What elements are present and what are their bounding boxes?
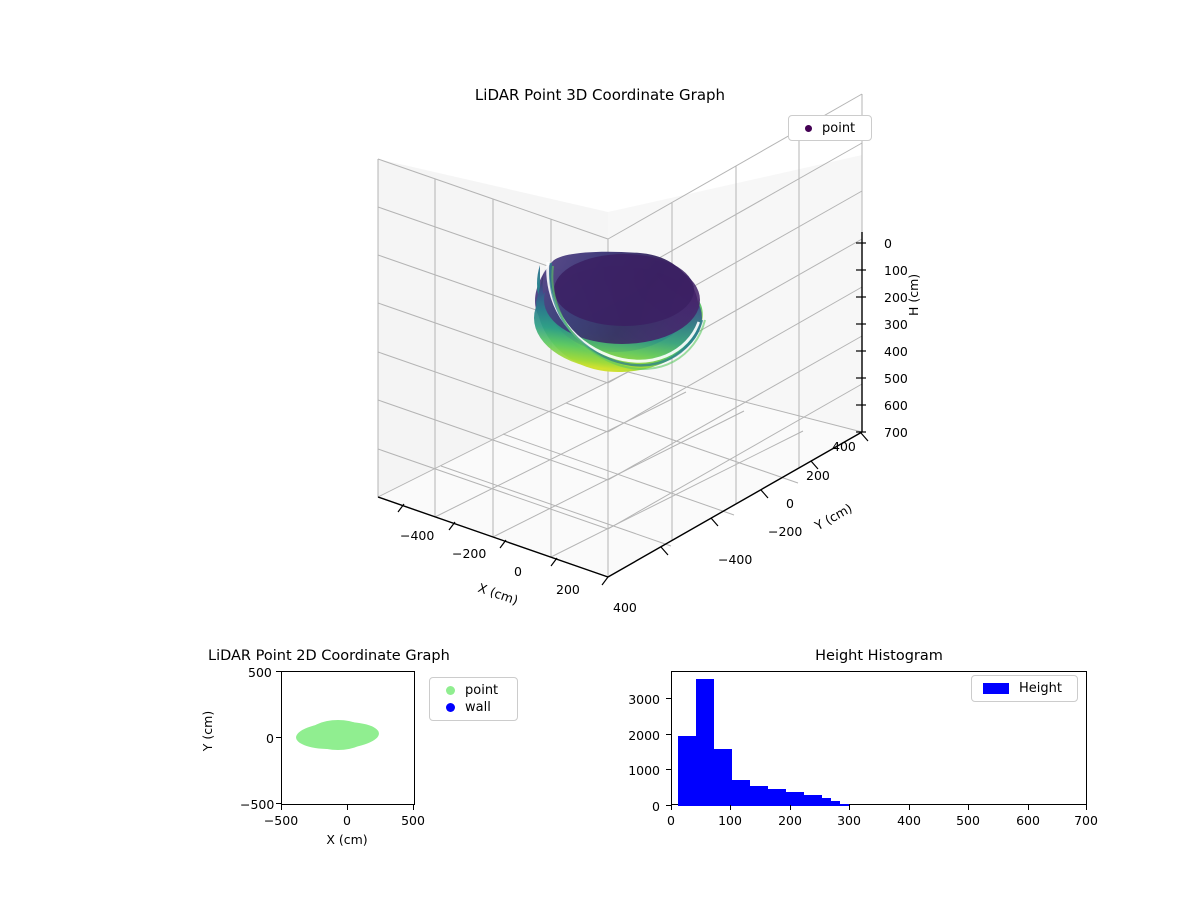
z-tick-500: 500 bbox=[884, 371, 908, 386]
hist-y-tick-0: 0 bbox=[652, 799, 660, 814]
figure-canvas: LiDAR Point 3D Coordinate Graph point 0 … bbox=[0, 0, 1200, 900]
plot2d-xtickmark-1 bbox=[281, 805, 282, 810]
hist-bar-5 bbox=[714, 749, 723, 806]
hist-bar-1 bbox=[678, 736, 687, 806]
y-tick-m400: −400 bbox=[718, 552, 752, 567]
hist-bar-15 bbox=[804, 795, 813, 806]
plot2d-x-tick-500: 500 bbox=[401, 813, 425, 828]
plot2d-y-tick-m500: −500 bbox=[240, 797, 274, 812]
x-tick-m400: −400 bbox=[400, 528, 434, 543]
hist-x-tick-300: 300 bbox=[837, 813, 861, 828]
axes3d-grid-left bbox=[378, 159, 608, 577]
x-tick-0: 0 bbox=[514, 564, 522, 579]
legend-entry-point-2d[interactable]: point bbox=[438, 682, 509, 699]
hist-ytickmark-4 bbox=[666, 698, 671, 699]
hist-y-tick-3000: 3000 bbox=[628, 692, 660, 707]
z-tick-700: 700 bbox=[884, 425, 908, 440]
axes3d-grid-right bbox=[608, 94, 862, 577]
y-tick-400: 400 bbox=[832, 439, 856, 454]
plot3d-legend[interactable]: point bbox=[788, 115, 872, 141]
hist-bar-2 bbox=[687, 736, 696, 806]
x-tick-m200: −200 bbox=[452, 546, 486, 561]
y-tick-0: 0 bbox=[786, 496, 794, 511]
hist-xtickmark-6 bbox=[968, 805, 969, 810]
hist-x-tick-500: 500 bbox=[956, 813, 980, 828]
plot2d-xtickmark-3 bbox=[413, 805, 414, 810]
point-cloud-3d bbox=[534, 252, 705, 372]
hist-xtickmark-4 bbox=[849, 805, 850, 810]
x-axis-label: X (cm) bbox=[476, 580, 520, 608]
plot2d-xtickmark-2 bbox=[347, 805, 348, 810]
legend-label-point-2d: point bbox=[465, 683, 498, 698]
z-tick-0: 0 bbox=[884, 236, 892, 251]
z-tick-400: 400 bbox=[884, 344, 908, 359]
hist-bar-11 bbox=[768, 789, 777, 806]
hist-xtickmark-5 bbox=[909, 805, 910, 810]
hist-xtickmark-1 bbox=[671, 805, 672, 810]
hist-bar-17 bbox=[822, 798, 831, 806]
hist-bar-8 bbox=[741, 780, 750, 806]
plot2d-legend[interactable]: point wall bbox=[429, 677, 518, 721]
hist-bar-18 bbox=[831, 801, 840, 806]
x-tick-200: 200 bbox=[556, 582, 580, 597]
z-tick-600: 600 bbox=[884, 398, 908, 413]
hist-bar-19 bbox=[840, 804, 849, 806]
axes3d-x-ticks bbox=[398, 504, 608, 585]
z-tick-300: 300 bbox=[884, 317, 908, 332]
plot2d-ytickmark-1 bbox=[276, 671, 281, 672]
plot2d-title: LiDAR Point 2D Coordinate Graph bbox=[208, 648, 450, 664]
hist-bar-16 bbox=[813, 795, 822, 806]
hist-bar-10 bbox=[759, 786, 768, 806]
height-patch-icon bbox=[983, 683, 1009, 694]
axes3d-grid-floor bbox=[378, 372, 862, 577]
plot2d-y-tick-500: 500 bbox=[248, 665, 272, 680]
hist-xtickmark-2 bbox=[730, 805, 731, 810]
hist-bar-6 bbox=[723, 749, 732, 806]
hist-bar-4 bbox=[705, 679, 714, 806]
hist-ytickmark-3 bbox=[666, 734, 671, 735]
hist-ytickmark-2 bbox=[666, 769, 671, 770]
hist-bar-14 bbox=[795, 792, 804, 806]
hist-xtickmark-7 bbox=[1028, 805, 1029, 810]
legend-entry-height[interactable]: Height bbox=[980, 680, 1069, 697]
hist-xtickmark-8 bbox=[1086, 805, 1087, 810]
y-tick-200: 200 bbox=[806, 468, 830, 483]
hist-x-tick-200: 200 bbox=[778, 813, 802, 828]
axes3d-panes bbox=[378, 155, 862, 577]
z-tick-200: 200 bbox=[884, 290, 908, 305]
x-tick-400: 400 bbox=[613, 600, 637, 615]
hist-xtickmark-3 bbox=[790, 805, 791, 810]
plot2d-y-tick-0: 0 bbox=[266, 731, 274, 746]
hist-bar-3 bbox=[696, 679, 705, 806]
scatter-2d-point-cloud-core bbox=[308, 720, 368, 750]
legend-label-height: Height bbox=[1019, 681, 1062, 696]
z-axis-label: H (cm) bbox=[906, 274, 921, 316]
point-marker-icon bbox=[446, 686, 455, 695]
legend-entry-wall[interactable]: wall bbox=[438, 699, 509, 716]
y-tick-m200: −200 bbox=[768, 524, 802, 539]
legend-label-wall: wall bbox=[465, 700, 491, 715]
wall-marker-icon bbox=[446, 703, 455, 712]
hist-y-tick-2000: 2000 bbox=[628, 728, 660, 743]
hist-x-tick-0: 0 bbox=[667, 813, 675, 828]
hist-x-tick-700: 700 bbox=[1074, 813, 1098, 828]
plot2d-x-tick-m500: −500 bbox=[264, 813, 298, 828]
histogram-legend[interactable]: Height bbox=[971, 675, 1078, 702]
hist-bar-9 bbox=[750, 786, 759, 806]
hist-x-tick-400: 400 bbox=[897, 813, 921, 828]
plot2d-x-axis-label: X (cm) bbox=[326, 832, 367, 847]
plot2d-x-tick-0: 0 bbox=[343, 813, 351, 828]
hist-y-tick-1000: 1000 bbox=[628, 763, 660, 778]
hist-bar-12 bbox=[777, 789, 786, 806]
plot2d-ytickmark-2 bbox=[276, 737, 281, 738]
hist-x-tick-600: 600 bbox=[1016, 813, 1040, 828]
plot2d-y-axis-label: Y (cm) bbox=[200, 711, 215, 751]
z-tick-100: 100 bbox=[884, 263, 908, 278]
axes3d-z-ticks bbox=[856, 243, 866, 432]
histogram-title: Height Histogram bbox=[815, 648, 943, 664]
legend-label-point: point bbox=[822, 121, 855, 136]
plot3d-title: LiDAR Point 3D Coordinate Graph bbox=[475, 86, 725, 104]
point-marker-icon bbox=[805, 125, 812, 132]
hist-x-tick-100: 100 bbox=[718, 813, 742, 828]
hist-bar-7 bbox=[732, 780, 741, 806]
plot2d-frame[interactable] bbox=[281, 671, 415, 805]
legend-entry-point[interactable]: point bbox=[797, 120, 863, 136]
hist-bar-13 bbox=[786, 792, 795, 806]
y-axis-label: Y (cm) bbox=[812, 500, 855, 533]
